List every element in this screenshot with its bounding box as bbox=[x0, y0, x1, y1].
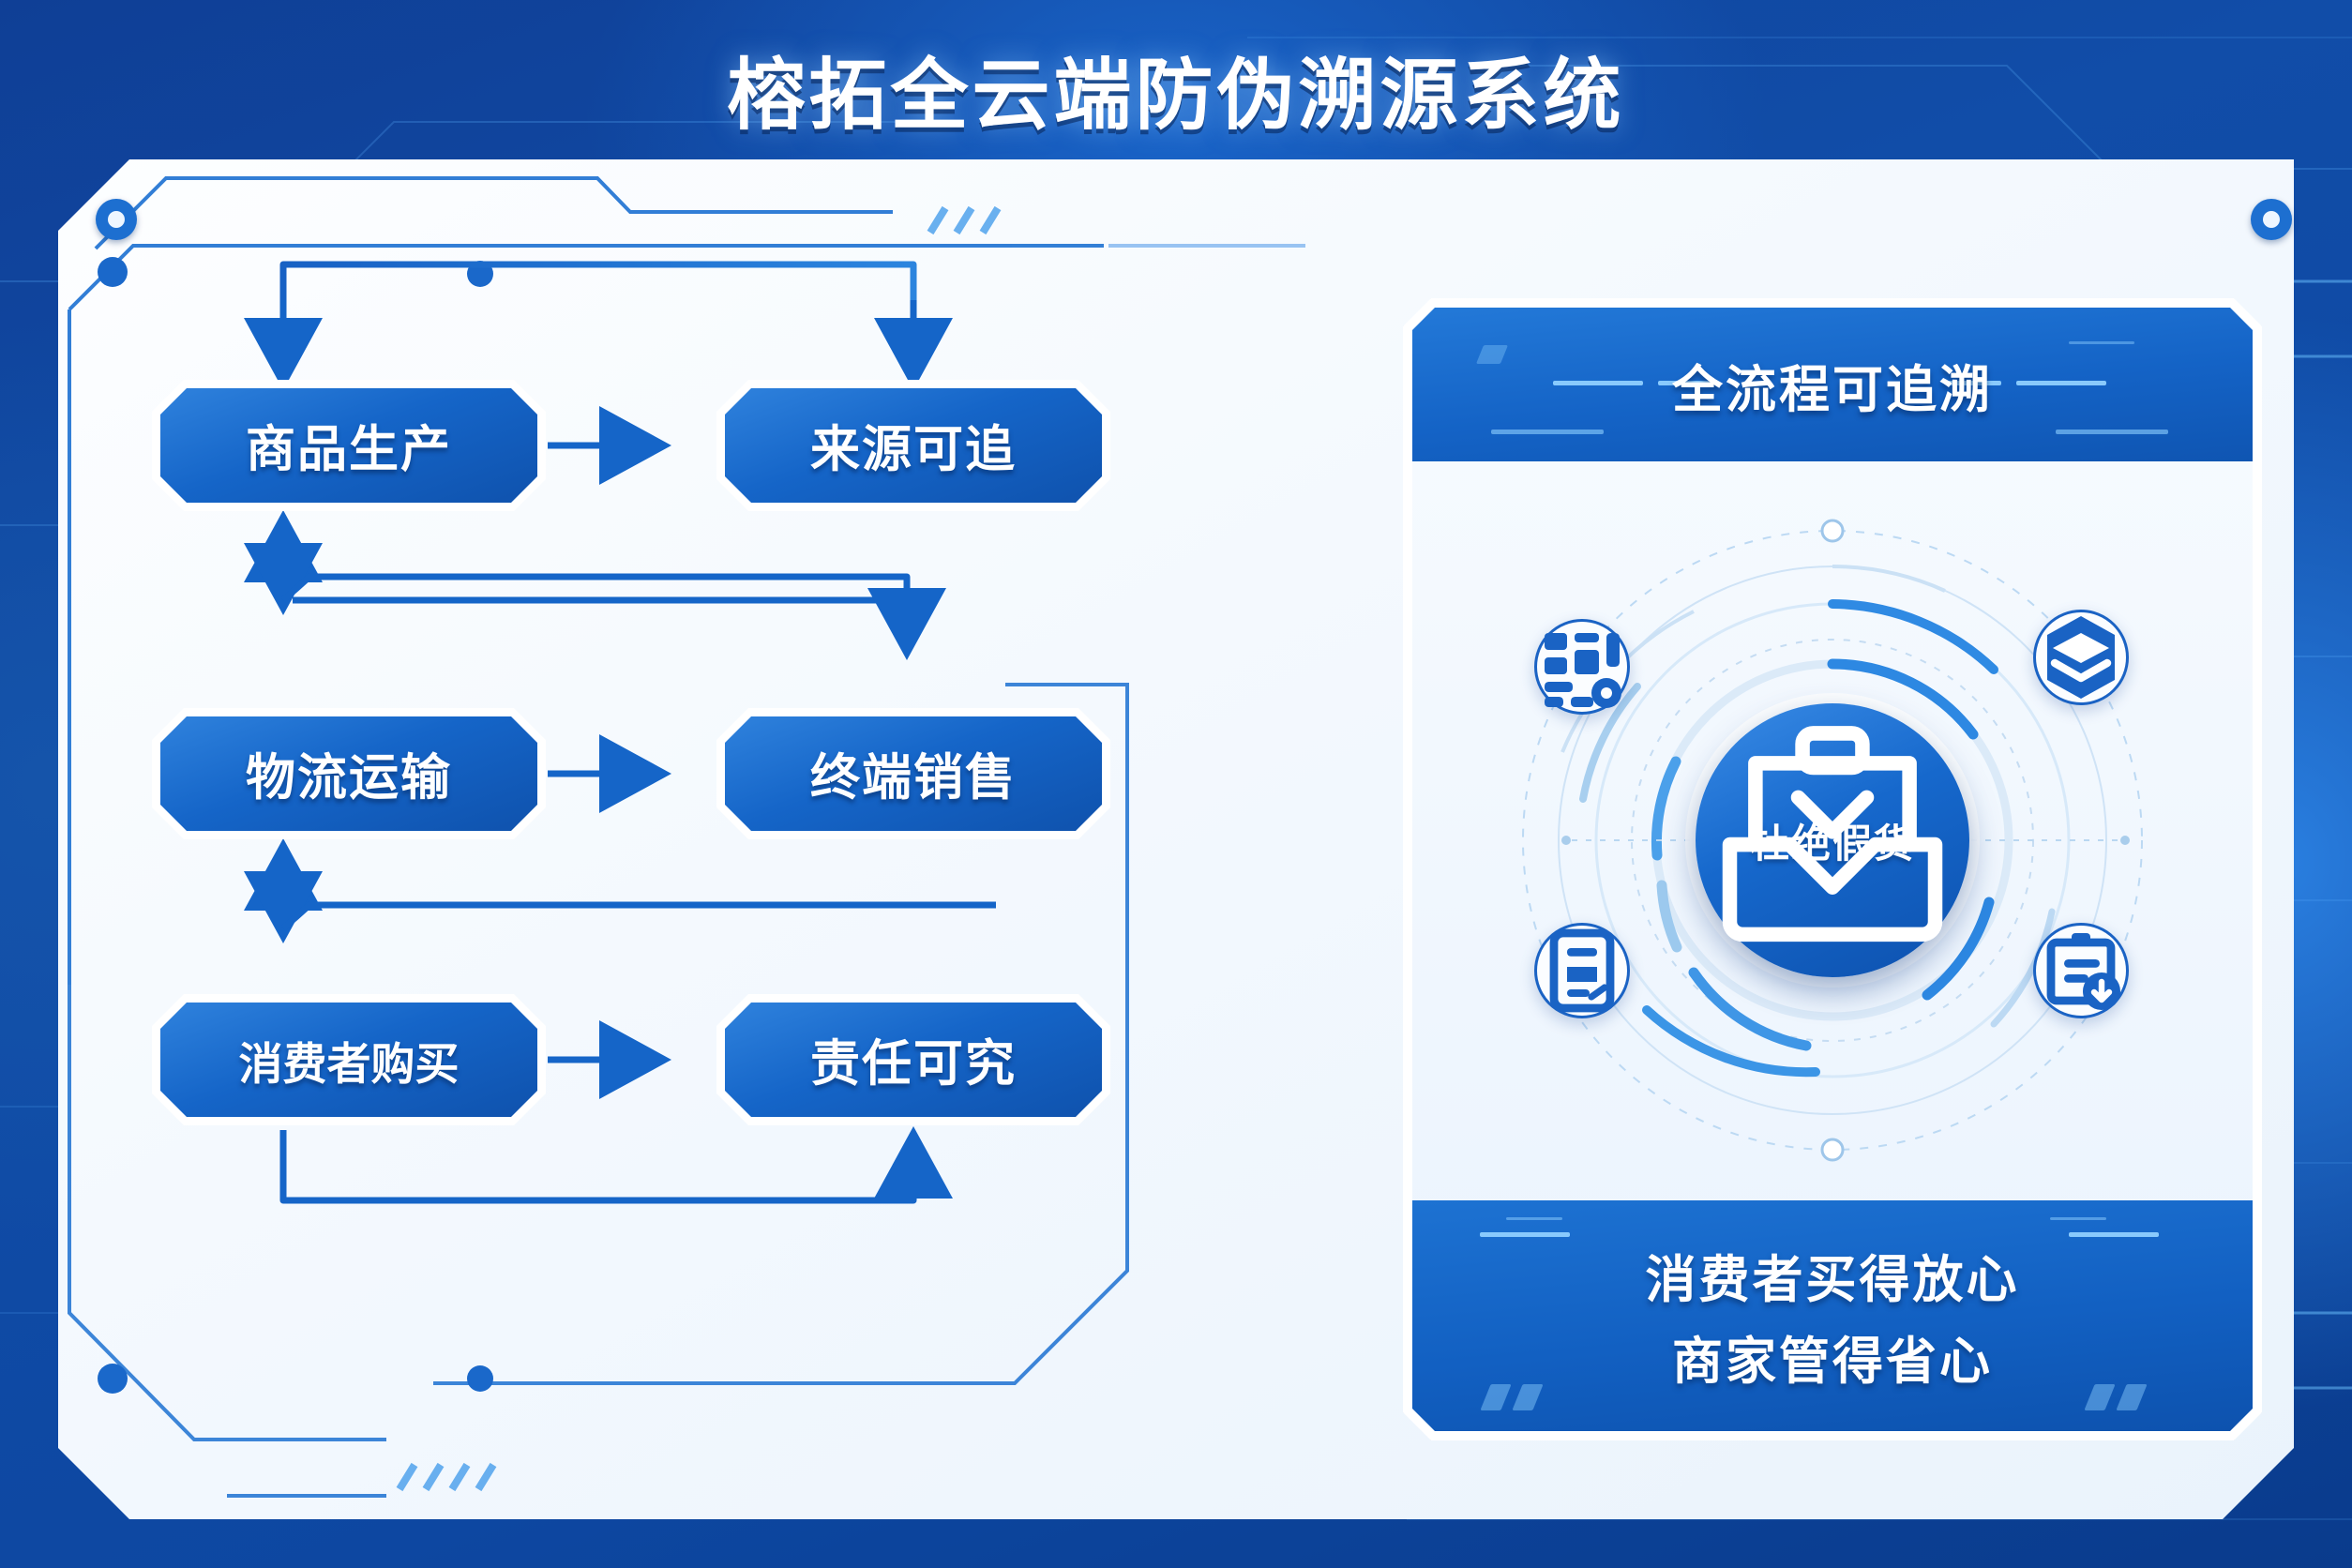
page-title: 榕拓全云端防伪溯源系统 bbox=[0, 32, 2352, 144]
flow-node-label: 消费者购买 bbox=[152, 994, 546, 1125]
flow-node-source-traceable[interactable]: 来源可追 bbox=[716, 380, 1110, 511]
traceability-panel-inner: 全流程可追溯 bbox=[1412, 308, 2253, 1431]
panel-header-title: 全流程可追溯 bbox=[1672, 348, 1993, 422]
circular-hub: 杜绝假货 bbox=[1412, 461, 2253, 1219]
panel-footer: 消费者买得放心 商家管得省心 bbox=[1412, 1200, 2253, 1431]
footer-line-1: 消费者买得放心 bbox=[1646, 1238, 2020, 1312]
flow-node-label: 责任可究 bbox=[716, 994, 1110, 1125]
flow-node-logistics-transport[interactable]: 物流运输 bbox=[152, 708, 546, 839]
header-dash-lower-left bbox=[1491, 430, 1604, 434]
flow-node-label: 商品生产 bbox=[152, 380, 546, 511]
clipboard-download-icon bbox=[2036, 926, 2126, 1016]
satellite-document-report[interactable] bbox=[1534, 923, 1630, 1018]
header-chip-top-left bbox=[1476, 345, 1508, 364]
flow-node-responsibility-traceable[interactable]: 责任可究 bbox=[716, 994, 1110, 1125]
flow-connectors bbox=[58, 159, 1371, 1519]
header-dash-top-right bbox=[2069, 341, 2134, 344]
flow-node-consumer-purchase[interactable]: 消费者购买 bbox=[152, 994, 546, 1125]
footer-chip-right-2 bbox=[2116, 1384, 2147, 1410]
core-badge[interactable]: 杜绝假货 bbox=[1696, 703, 1969, 977]
traceability-panel: 全流程可追溯 bbox=[1403, 298, 2262, 1440]
satellite-layers-shield[interactable] bbox=[2033, 610, 2129, 705]
clipboard-inbox-check-icon bbox=[1696, 703, 1969, 977]
flow-node-label: 物流运输 bbox=[152, 708, 546, 839]
footer-chip-right-1 bbox=[2084, 1384, 2115, 1410]
flow-node-product-production[interactable]: 商品生产 bbox=[152, 380, 546, 511]
document-report-icon bbox=[1537, 926, 1627, 1016]
footer-dash-left bbox=[1480, 1232, 1570, 1237]
footer-dash-right-thin bbox=[2050, 1217, 2106, 1220]
footer-dash-right bbox=[2069, 1232, 2159, 1237]
satellite-clipboard-download[interactable] bbox=[2033, 923, 2129, 1018]
footer-chip-left-1 bbox=[1480, 1384, 1511, 1410]
header-dash-right-2 bbox=[2016, 381, 2106, 385]
footer-dash-left-thin bbox=[1506, 1217, 1562, 1220]
satellite-dashboard-grid[interactable] bbox=[1534, 619, 1630, 715]
header-dash-lower-right bbox=[2056, 430, 2168, 434]
flow-node-label: 来源可追 bbox=[716, 380, 1110, 511]
header-dash-left-1 bbox=[1553, 381, 1643, 385]
layers-shield-icon bbox=[2036, 612, 2126, 702]
screw-decoration-top-right bbox=[2251, 199, 2292, 240]
screw-decoration-top-left bbox=[96, 199, 137, 240]
flow-diagram: 商品生产 来源可追 物流运输 终端销售 消费者购买 责任可究 bbox=[58, 159, 1371, 1519]
flow-node-terminal-sales[interactable]: 终端销售 bbox=[716, 708, 1110, 839]
flow-node-label: 终端销售 bbox=[716, 708, 1110, 839]
panel-header: 全流程可追溯 bbox=[1412, 308, 2253, 461]
footer-chip-left-2 bbox=[1512, 1384, 1543, 1410]
dashboard-grid-icon bbox=[1537, 622, 1627, 712]
footer-line-2: 商家管得省心 bbox=[1672, 1319, 1993, 1394]
